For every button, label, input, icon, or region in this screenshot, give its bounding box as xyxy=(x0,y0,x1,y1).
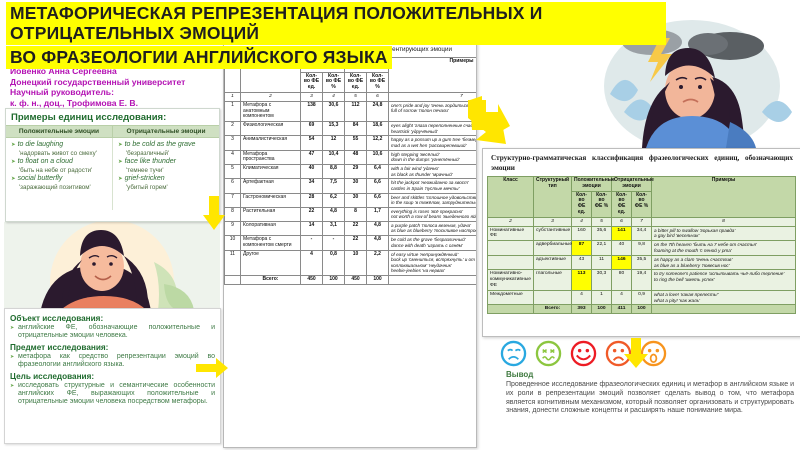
example-en: to die laughing xyxy=(11,141,63,148)
example-ru: 'быть на небе от радости' xyxy=(11,167,108,174)
th-pos-abs: Кол-во ФЕ ед. xyxy=(572,191,592,217)
table-row: Номинативные ФЕсубстантивные16035,614134… xyxy=(488,226,796,241)
list-item: to die laughing 'надорвать живот со смех… xyxy=(11,141,108,157)
index-cell: 1 xyxy=(225,92,241,101)
cell-kind: Артефактная xyxy=(241,179,301,193)
cell-examples: as happy as a clam 'очень счастлив'as bl… xyxy=(652,255,796,270)
th-neg-pct: Кол-во ФЕ % xyxy=(367,72,389,92)
index-cell: 7 xyxy=(632,217,652,226)
author-line-5: Научный руководитель: xyxy=(10,87,225,98)
cell-examples: eyes alight 'глаза переполненные счастья… xyxy=(389,122,478,136)
cell-pos-pct: 4,8 xyxy=(323,207,345,221)
cell-kind: Гастрономическая xyxy=(241,193,301,207)
index-cell: 6 xyxy=(367,92,389,101)
author-line-6: к. ф. н., доц., Трофимова Е. В. xyxy=(10,98,225,109)
cell-kind: Метафора с анатомным компонентом xyxy=(241,101,301,121)
cell-pos-abs: 113 xyxy=(572,270,592,290)
table-row: 1Метафора с анатомным компонентом13830,6… xyxy=(225,101,478,121)
index-cell: 5 xyxy=(592,217,612,226)
cell-neg-abs: 141 xyxy=(612,226,632,241)
cell-total-value: 100 xyxy=(592,305,612,314)
cell-examples: one's pride and joy 'очень гордиться чем… xyxy=(389,101,478,121)
cell-pos-abs: - xyxy=(301,236,323,251)
examples-card-title: Примеры единиц исследования: xyxy=(6,109,219,125)
cell-type: адъективные xyxy=(534,255,572,270)
cell-kind: Колоративная xyxy=(241,221,301,235)
cell-neg-pct: 1,7 xyxy=(367,207,389,221)
conclusion-text: Проведенное исследование фразеологически… xyxy=(506,381,794,416)
cell-total-value: 100 xyxy=(632,305,652,314)
emoji-nauseated-icon xyxy=(535,340,562,367)
emoji-happy-icon xyxy=(570,340,597,367)
cell-total-value: 100 xyxy=(367,276,389,285)
cell-no: 8 xyxy=(225,207,241,221)
cell-pos-pct: 0,8 xyxy=(323,250,345,275)
conclusion-heading: Вывод xyxy=(506,370,794,379)
cell-class: Номинативно-коммуникативные ФЕ xyxy=(488,270,534,290)
cell-type: субстантивные xyxy=(534,226,572,241)
index-cell: 3 xyxy=(534,217,572,226)
cell-examples: a purple patch 'полоса везения, удача'as… xyxy=(389,221,478,235)
cell-neg-pct: 6,6 xyxy=(367,193,389,207)
index-cell: 6 xyxy=(612,217,632,226)
cell-no: 6 xyxy=(225,179,241,193)
cell-neg-pct: 9,8 xyxy=(632,241,652,256)
arrow-down-right-lower-icon xyxy=(624,338,648,368)
index-cell: 8 xyxy=(652,217,796,226)
subject-text: метафора как средство репрезентации эмоц… xyxy=(10,353,215,370)
cell-examples: to try someone's patience 'испытывать чь… xyxy=(652,270,796,290)
examples-card: Примеры единиц исследования: Положительн… xyxy=(5,108,220,222)
cell-kind: Другое xyxy=(241,250,301,275)
cell-neg-pct: 2,2 xyxy=(367,250,389,275)
title-line-1: МЕТАФОРИЧЕСКАЯ РЕПРЕЗЕНТАЦИЯ ПОЛОЖИТЕЛЬН… xyxy=(6,2,666,45)
cell-neg-pct: 24,8 xyxy=(367,101,389,121)
table-row: Номинативно-коммуникативные ФЕглагольные… xyxy=(488,270,796,290)
table-row: 7Гастрономическая286,2306,6beer and skit… xyxy=(225,193,478,207)
example-en: grief-stricken xyxy=(118,175,165,182)
examples-positive-list: to die laughing 'надорвать живот со смех… xyxy=(6,138,113,210)
cell-neg-abs: 48 xyxy=(345,150,367,165)
cell-no: 5 xyxy=(225,165,241,179)
cell-examples: happy as a possum up a gum tree 'безмерн… xyxy=(389,136,478,150)
cell-kind: Метафора пространства xyxy=(241,150,301,165)
examples-col-positive-header: Положительные эмоции xyxy=(6,126,113,137)
cell-examples: high stepping 'весёлый'down in the dumps… xyxy=(389,150,478,165)
cell-neg-pct: 0,9 xyxy=(632,290,652,305)
table-row: 3Анималистическая54125512,2happy as a po… xyxy=(225,136,478,150)
cell-type: адвербиальные xyxy=(534,241,572,256)
cell-pos-pct: 11 xyxy=(592,255,612,270)
example-ru: 'заражающий позитивом' xyxy=(11,184,108,191)
emoji-strip xyxy=(500,338,800,368)
cell-pos-pct: 7,5 xyxy=(323,179,345,193)
cell-no: 2 xyxy=(225,122,241,136)
cell-neg-abs: 84 xyxy=(345,122,367,136)
index-cell: 5 xyxy=(345,92,367,101)
cell-neg-abs: 112 xyxy=(345,101,367,121)
th-neg-abs: Кол-во ФЕ ед. xyxy=(345,72,367,92)
arrow-diagonal-icon xyxy=(466,98,510,148)
cell-neg-abs: 10 xyxy=(345,250,367,275)
author-line-4: Донецкий государственный университет xyxy=(10,77,225,88)
index-cell: 7 xyxy=(389,92,478,101)
cell-examples: everything is roses 'всё прекрасно'not w… xyxy=(389,207,478,221)
cell-neg-abs: 55 xyxy=(345,136,367,150)
cell-neg-abs: 40 xyxy=(612,241,632,256)
cell-class: Междометные xyxy=(488,290,534,305)
cell-pos-abs: 160 xyxy=(572,226,592,241)
cell-no: 10 xyxy=(225,236,241,251)
arrow-down-left-icon xyxy=(203,196,225,230)
cell-neg-pct: 19,4 xyxy=(632,270,652,290)
example-ru: 'убитый горем' xyxy=(118,184,215,191)
cell-pos-pct: 1 xyxy=(592,290,612,305)
cell-neg-abs: 22 xyxy=(345,221,367,235)
cell-pos-abs: 22 xyxy=(301,207,323,221)
cell-pos-pct: 10,4 xyxy=(323,150,345,165)
cell-kind: Климатическая xyxy=(241,165,301,179)
example-en: to float on a cloud xyxy=(11,158,73,165)
cell-pos-abs: 4 xyxy=(572,290,592,305)
cell-neg-abs: 80 xyxy=(612,270,632,290)
cell-no: 9 xyxy=(225,221,241,235)
cell-kind: Физиологическая xyxy=(241,122,301,136)
cell-pos-abs: 138 xyxy=(301,101,323,121)
example-ru: 'надорвать живот со смеху' xyxy=(11,150,108,157)
cell-neg-abs: 4 xyxy=(612,290,632,305)
cell-neg-abs: 29 xyxy=(345,165,367,179)
cell-pos-pct: 30,6 xyxy=(323,101,345,121)
cell-examples: of easy virtue 'непринуждённый'buck up '… xyxy=(389,250,478,275)
list-item: to be cold as the grave 'безразличный' xyxy=(118,141,215,157)
th-neg-abs: Кол-во ФЕ ед. xyxy=(612,191,632,217)
presentation-slide: МЕТАФОРИЧЕСКАЯ РЕПРЕЗЕНТАЦИЯ ПОЛОЖИТЕЛЬН… xyxy=(0,0,800,450)
cell-pos-abs: 40 xyxy=(301,165,323,179)
table-row: 5Климатическая408,8296,4with a fair wind… xyxy=(225,165,478,179)
table-row: адъективные431114635,5as happy as a clam… xyxy=(488,255,796,270)
cell-total-value: 450 xyxy=(301,276,323,285)
cell-neg-pct: 4,8 xyxy=(367,221,389,235)
cell-kind: Анималистическая xyxy=(241,136,301,150)
index-cell: 2 xyxy=(241,92,301,101)
cell-examples: a bitter pill to swallow 'горькая правда… xyxy=(652,226,796,241)
table-row: адвербиальные8722,1409,8on the 7th heave… xyxy=(488,241,796,256)
th-type: Структурный тип xyxy=(534,177,572,218)
grammar-table-caption: Структурно-грамматическая классификация … xyxy=(483,149,800,176)
emoji-sad-icon xyxy=(500,340,527,367)
object-text: английские ФЕ, обозначающие положительны… xyxy=(10,324,215,341)
cell-neg-pct: 10,6 xyxy=(367,150,389,165)
index-cell: 2 xyxy=(488,217,534,226)
cell-examples: what a love! 'какая прелесть!'what a pit… xyxy=(652,290,796,305)
table-row: 4Метафора пространства4710,44810,6high s… xyxy=(225,150,478,165)
cell-pos-pct: 35,6 xyxy=(592,226,612,241)
cell-no: 1 xyxy=(225,101,241,121)
cell-pos-pct: 12 xyxy=(323,136,345,150)
table-row: 2Физиологическая6915,38418,6eyes alight … xyxy=(225,122,478,136)
list-item: social butterfly 'заражающий позитивом' xyxy=(11,175,108,191)
table-row: 6Артефактная347,5306,6hit the jackpot 'н… xyxy=(225,179,478,193)
cell-no: 11 xyxy=(225,250,241,275)
th-neg-pct: Кол-во ФЕ % xyxy=(632,191,652,217)
th-class: Класс xyxy=(488,177,534,218)
research-scope-card: Объект исследования: английские ФЕ, обоз… xyxy=(4,308,221,444)
cell-pos-pct: 15,3 xyxy=(323,122,345,136)
arrow-right-middle-icon xyxy=(196,358,228,378)
cell-neg-pct: 18,6 xyxy=(367,122,389,136)
cell-pos-abs: 4 xyxy=(301,250,323,275)
cell-no: 7 xyxy=(225,193,241,207)
subject-heading: Предмет исследования: xyxy=(10,343,215,352)
object-heading: Объект исследования: xyxy=(10,314,215,323)
cell-no: 3 xyxy=(225,136,241,150)
goal-heading: Цель исследования: xyxy=(10,372,215,381)
semantic-classification-table: № п/п Вид метафоры Положительные эмоции … xyxy=(224,57,477,285)
th-group-negative: Отрицательные эмоции xyxy=(612,177,652,192)
table-total-row: Всего:393100411100 xyxy=(488,305,796,314)
cell-neg-abs: 8 xyxy=(345,207,367,221)
cell-pos-abs: 54 xyxy=(301,136,323,150)
cell-pos-abs: 14 xyxy=(301,221,323,235)
table-row: 9Колоративная143,1224,8a purple patch 'п… xyxy=(225,221,478,235)
th-pos-abs: Кол-во ФЕ ед. xyxy=(301,72,323,92)
index-cell: 4 xyxy=(323,92,345,101)
cell-neg-pct: 4,8 xyxy=(367,236,389,251)
cell-pos-abs: 69 xyxy=(301,122,323,136)
example-ru: 'темнее тучи' xyxy=(118,167,215,174)
cell-examples: on the 7th heaven 'быть на 7 небе от сча… xyxy=(652,241,796,256)
list-item: grief-stricken 'убитый горем' xyxy=(118,175,215,191)
example-en: face like thunder xyxy=(118,158,176,165)
cell-pos-pct: 3,1 xyxy=(323,221,345,235)
cell-neg-pct: 6,4 xyxy=(367,165,389,179)
cell-examples: be cold as the grave 'безразличный'dance… xyxy=(389,236,478,251)
cell-no: 4 xyxy=(225,150,241,165)
slide-title: МЕТАФОРИЧЕСКАЯ РЕПРЕЗЕНТАЦИЯ ПОЛОЖИТЕЛЬН… xyxy=(6,2,666,69)
index-cell: 3 xyxy=(301,92,323,101)
cell-pos-pct: 22,1 xyxy=(592,241,612,256)
cell-kind: Метафора с компонентом смерти xyxy=(241,236,301,251)
grammar-classification-table-card: Структурно-грамматическая классификация … xyxy=(482,148,800,337)
cell-examples: hit the jackpot 'неожиданно за хвост'cas… xyxy=(389,179,478,193)
examples-col-negative-header: Отрицательные эмоции xyxy=(113,126,219,137)
cell-pos-abs: 87 xyxy=(572,241,592,256)
cell-neg-abs: 146 xyxy=(612,255,632,270)
cell-neg-abs: 22 xyxy=(345,236,367,251)
cell-total-value: 393 xyxy=(572,305,592,314)
goal-text: исследовать структурные и семантические … xyxy=(10,382,215,407)
semantic-classification-table-card: Семантическая классификация метафор, реп… xyxy=(223,42,477,448)
cell-total-value: 411 xyxy=(612,305,632,314)
cell-neg-pct: 34,4 xyxy=(632,226,652,241)
cell-neg-pct: 35,5 xyxy=(632,255,652,270)
cell-pos-pct: - xyxy=(323,236,345,251)
table-row: 8Растительная224,881,7everything is rose… xyxy=(225,207,478,221)
conclusion-card: Вывод Проведенное исследование фразеолог… xyxy=(500,368,800,448)
cell-pos-abs: 28 xyxy=(301,193,323,207)
th-examples: Примеры xyxy=(652,177,796,218)
example-en: social butterfly xyxy=(11,175,62,182)
cell-neg-pct: 12,2 xyxy=(367,136,389,150)
list-item: face like thunder 'темнее тучи' xyxy=(118,158,215,174)
th-pos-pct: Кол-во ФЕ % xyxy=(592,191,612,217)
cell-examples: with a fair wind 'удачно'as black as thu… xyxy=(389,165,478,179)
cell-class xyxy=(488,241,534,256)
table-header-row: Класс Структурный тип Положительные эмоц… xyxy=(488,177,796,192)
cell-pos-abs: 34 xyxy=(301,179,323,193)
cell-neg-abs: 30 xyxy=(345,193,367,207)
cell-total-value: 100 xyxy=(323,276,345,285)
cell-kind: Растительная xyxy=(241,207,301,221)
table-row: 10Метафора с компонентом смерти--224,8be… xyxy=(225,236,478,251)
cell-neg-pct: 6,6 xyxy=(367,179,389,193)
cell-type xyxy=(534,290,572,305)
title-line-2: ВО ФРАЗЕОЛОГИИ АНГЛИЙСКОГО ЯЗЫКА xyxy=(6,46,392,69)
cell-neg-abs: 30 xyxy=(345,179,367,193)
cell-pos-pct: 30,3 xyxy=(592,270,612,290)
examples-card-header: Положительные эмоции Отрицательные эмоци… xyxy=(6,125,219,138)
index-cell: 4 xyxy=(572,217,592,226)
th-pos-pct: Кол-во ФЕ % xyxy=(323,72,345,92)
list-item: to float on a cloud 'быть на небе от рад… xyxy=(11,158,108,174)
table-row: Междометные4140,9what a love! 'какая пре… xyxy=(488,290,796,305)
th-group-positive: Положительные эмоции xyxy=(572,177,612,192)
cell-total-value: 450 xyxy=(345,276,367,285)
example-en: to be cold as the grave xyxy=(118,141,195,148)
cell-pos-pct: 8,8 xyxy=(323,165,345,179)
cell-class: Номинативные ФЕ xyxy=(488,226,534,241)
cell-type: глагольные xyxy=(534,270,572,290)
grammar-classification-table: Класс Структурный тип Положительные эмоц… xyxy=(487,176,796,314)
cell-total-label: Всего: xyxy=(534,305,572,314)
cell-pos-pct: 6,2 xyxy=(323,193,345,207)
cell-pos-abs: 43 xyxy=(572,255,592,270)
cell-examples: beer and skittles 'сплошное удовольствие… xyxy=(389,193,478,207)
table-total-row: Всего:450100450100 xyxy=(225,276,478,285)
cell-pos-abs: 47 xyxy=(301,150,323,165)
table-index-row: 1234567 xyxy=(225,92,478,101)
table-row: 11Другое40,8102,2of easy virtue 'неприну… xyxy=(225,250,478,275)
cell-total-label: Всего: xyxy=(241,276,301,285)
table-index-row: 2345678 xyxy=(488,217,796,226)
example-ru: 'безразличный' xyxy=(118,150,215,157)
cell-class xyxy=(488,255,534,270)
